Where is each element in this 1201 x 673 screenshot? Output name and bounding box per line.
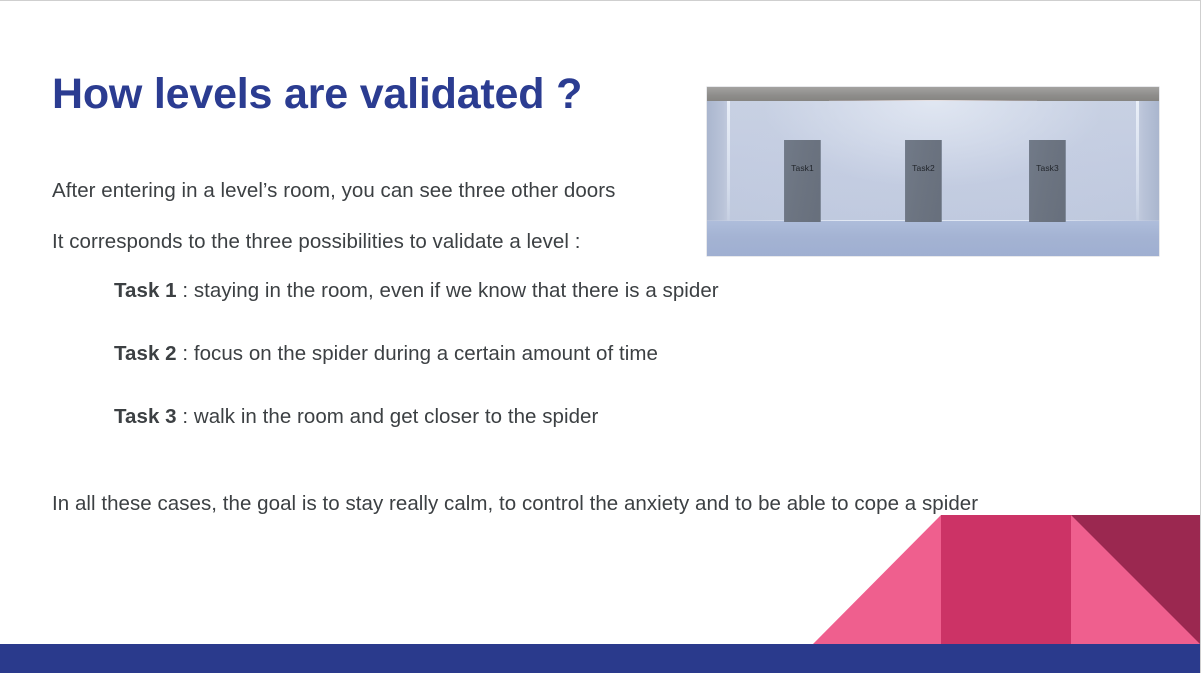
task-3-separator: : bbox=[177, 405, 194, 428]
task-2-separator: : bbox=[177, 342, 194, 365]
deco-triangle-right-maroon bbox=[1071, 515, 1201, 645]
room-door-task1-label: Task1 bbox=[784, 163, 821, 173]
task-item-2: Task 2 : focus on the spider during a ce… bbox=[114, 342, 658, 366]
closing-paragraph: In all these cases, the goal is to stay … bbox=[52, 488, 1107, 519]
task-3-description: walk in the room and get closer to the s… bbox=[194, 405, 599, 428]
task-3-label: Task 3 bbox=[114, 405, 177, 428]
room-screenshot-image: Task1 Task2 Task3 bbox=[707, 87, 1159, 256]
deco-rect-right-pink bbox=[1071, 515, 1201, 645]
room-corner-seam-left bbox=[727, 101, 730, 224]
room-side-wall-right bbox=[1137, 101, 1159, 224]
room-door-task1: Task1 bbox=[784, 140, 821, 222]
bottom-accent-bar bbox=[0, 644, 1200, 673]
room-side-wall-left bbox=[707, 101, 729, 224]
deco-rect-center bbox=[941, 515, 1071, 645]
deco-triangle-left bbox=[812, 515, 941, 645]
task-2-label: Task 2 bbox=[114, 342, 177, 365]
page-title: How levels are validated ? bbox=[52, 70, 582, 119]
task-item-1: Task 1 : staying in the room, even if we… bbox=[114, 279, 719, 303]
task-1-label: Task 1 bbox=[114, 279, 177, 302]
room-door-task2-label: Task2 bbox=[905, 163, 942, 173]
room-corner-seam-right bbox=[1136, 101, 1139, 224]
room-door-task3-label: Task3 bbox=[1029, 163, 1066, 173]
intro-line-1: After entering in a level’s room, you ca… bbox=[52, 176, 615, 205]
room-door-task2: Task2 bbox=[905, 140, 942, 222]
slide-canvas: How levels are validated ? After enterin… bbox=[0, 0, 1201, 673]
task-1-separator: : bbox=[177, 279, 194, 302]
task-1-description: staying in the room, even if we know tha… bbox=[194, 279, 719, 302]
room-floor bbox=[707, 221, 1159, 256]
room-door-task3: Task3 bbox=[1029, 140, 1066, 222]
task-item-3: Task 3 : walk in the room and get closer… bbox=[114, 405, 598, 429]
task-2-description: focus on the spider during a certain amo… bbox=[194, 342, 658, 365]
intro-line-2: It corresponds to the three possibilitie… bbox=[52, 227, 580, 256]
